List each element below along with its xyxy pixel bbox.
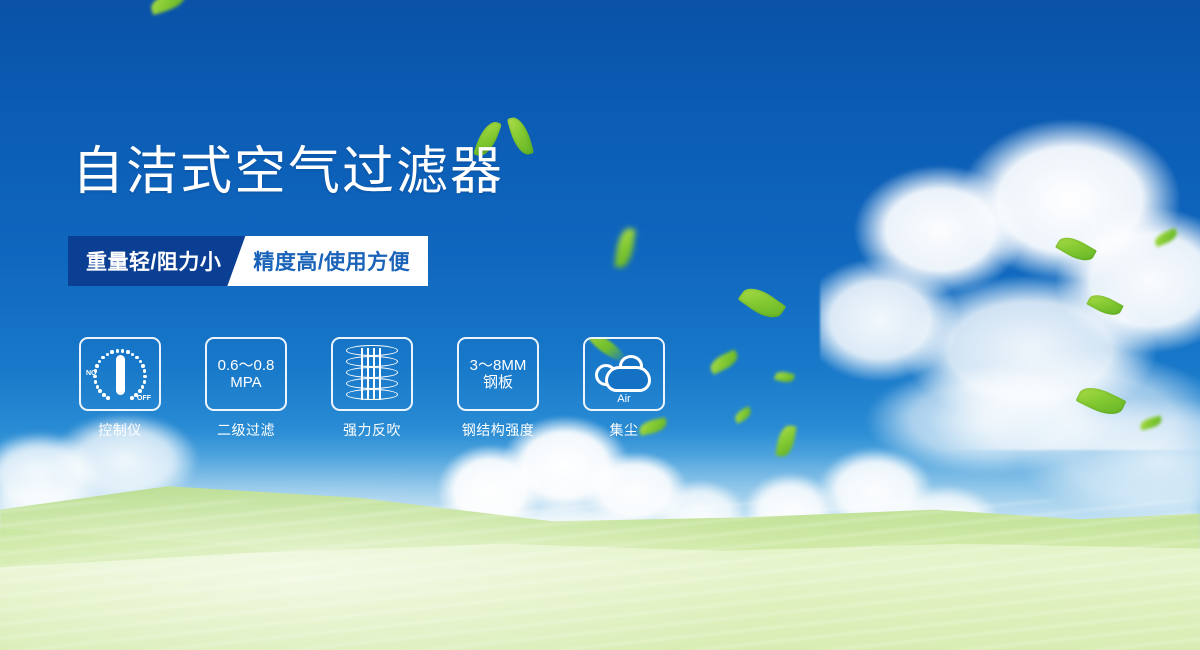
feature-item-pressure[interactable]: 0.6〜0.8 MPA 二级过滤 [204, 337, 288, 440]
dial-tick [143, 369, 147, 373]
feature-icon-box-dust: Air [583, 337, 665, 411]
feature-icon-box-blowback [331, 337, 413, 411]
dial-tick [102, 393, 106, 397]
dial-tick [143, 380, 147, 384]
dial-tick [139, 360, 143, 364]
air-cloud-icon: Air [593, 346, 655, 402]
feature-icon-box-pressure: 0.6〜0.8 MPA [205, 337, 287, 411]
floating-leaf-3 [738, 281, 787, 324]
dial-tick [130, 396, 134, 400]
feature-item-dust[interactable]: Air 集尘 [582, 337, 666, 440]
dial-tick [141, 364, 145, 368]
dial-tick [116, 349, 120, 353]
dial-tick [110, 350, 114, 354]
feature-label-steel: 钢结构强度 [462, 420, 535, 440]
dial-pointer [116, 355, 125, 395]
feature-item-steel[interactable]: 3〜8MM 钢板 钢结构强度 [456, 337, 540, 440]
floating-leaf-5 [774, 370, 795, 385]
floating-leaf-1 [148, 0, 187, 15]
floating-leaf-4 [707, 349, 740, 374]
dial-tick [126, 350, 130, 354]
pressure-value-line2: MPA [230, 374, 261, 391]
dial-tick [135, 356, 139, 360]
tagline-badge: 重量轻/阻力小 精度高/使用方便 [68, 236, 428, 286]
grass-highlight-glow [0, 450, 1200, 650]
dial-tick [96, 385, 100, 389]
feature-icon-box-control: NO OFF [79, 337, 161, 411]
page-title: 自洁式空气过滤器 [72, 146, 504, 198]
feature-label-dust: 集尘 [610, 420, 639, 440]
pressure-value-line1: 0.6〜0.8 [218, 357, 275, 374]
hero-banner: 自洁式空气过滤器 重量轻/阻力小 精度高/使用方便 NO OFF 控制仪 0.6… [0, 0, 1200, 650]
tagline-badge-left: 重量轻/阻力小 [68, 236, 245, 286]
feature-icon-box-steel: 3〜8MM 钢板 [457, 337, 539, 411]
floating-leaf-2 [614, 227, 635, 269]
dial-tick [106, 396, 110, 400]
cloud-puff-body [605, 366, 651, 392]
dial-tick [138, 389, 142, 393]
dial-tick [94, 380, 98, 384]
pleated-filter-icon [346, 345, 398, 403]
feature-label-control: 控制仪 [98, 420, 142, 440]
steel-value-line2: 钢板 [483, 374, 513, 391]
dial-tick [93, 375, 97, 379]
dial-tick [95, 364, 99, 368]
dial-tick [141, 385, 145, 389]
air-label: Air [593, 393, 655, 405]
feature-item-blowback[interactable]: 强力反吹 [330, 337, 414, 440]
feature-item-control[interactable]: NO OFF 控制仪 [78, 337, 162, 440]
dial-tick [143, 375, 147, 379]
dial-tick [121, 349, 125, 353]
feature-label-pressure: 二级过滤 [217, 420, 275, 440]
dial-tick [101, 356, 105, 360]
feature-label-blowback: 强力反吹 [343, 420, 401, 440]
control-dial-icon: NO OFF [85, 343, 155, 405]
dial-off-label: OFF [137, 395, 151, 402]
dial-tick [98, 389, 102, 393]
sprout-leaf-right [507, 114, 534, 157]
dial-tick [106, 353, 110, 357]
dial-tick [131, 353, 135, 357]
feature-icon-row: NO OFF 控制仪 0.6〜0.8 MPA 二级过滤 [78, 337, 666, 440]
dial-tick [98, 360, 102, 364]
dial-tick [134, 393, 138, 397]
tagline-badge-right: 精度高/使用方便 [227, 236, 428, 286]
steel-value-line1: 3〜8MM [470, 357, 527, 374]
